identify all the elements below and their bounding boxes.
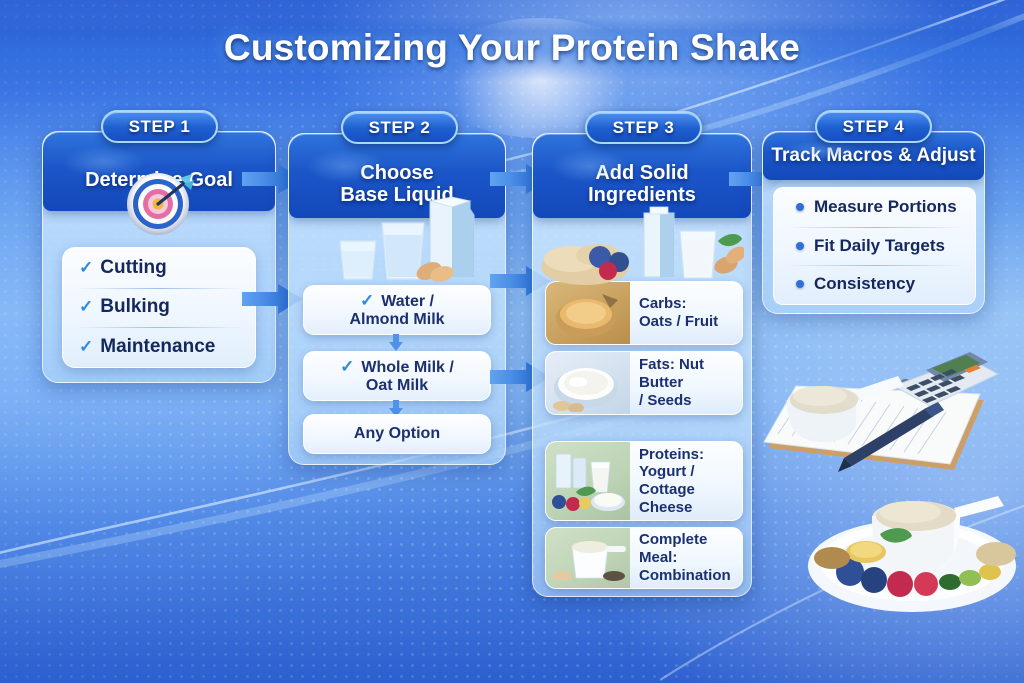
bullet-icon (796, 242, 804, 250)
check-icon: ✓ (340, 357, 354, 376)
oats-berries-milk-icon (540, 205, 744, 285)
milk-glasses-icon (320, 195, 480, 285)
ingredient-line-2: / Seeds (639, 392, 692, 409)
list-item-label: Maintenance (100, 336, 215, 358)
ingredient-text: Carbs: Oats / Fruit (630, 295, 724, 330)
fruit-plate-scoop-image (800, 470, 1024, 620)
step-4-heading: Track Macros & Adjust (771, 145, 975, 166)
ingredient-line-1: Fats: Nut Butter (639, 356, 704, 391)
option-line-2: Oat Milk (366, 377, 428, 394)
list-item[interactable]: Measure Portions (774, 188, 975, 227)
option-line-2: Almond Milk (349, 311, 444, 328)
check-icon: ✓ (79, 337, 93, 357)
check-icon: ✓ (79, 297, 93, 317)
step-3-ingredient-proteins[interactable]: Proteins: Yogurt / Cottage Cheese (545, 441, 743, 521)
step-3-badge-label: STEP 3 (613, 118, 675, 138)
target-icon (122, 166, 194, 238)
ingredient-line-1: Carbs: (639, 295, 687, 312)
option-line-1: Water / (381, 293, 434, 310)
check-icon: ✓ (360, 291, 374, 310)
ingredient-line-1: Proteins: (639, 446, 704, 463)
step-3-heading: Add Solid Ingredients (588, 162, 696, 207)
list-item[interactable]: Consistency (774, 265, 975, 304)
protein-scoop-thumb (546, 528, 630, 588)
step-2-option-1[interactable]: ✓Water / Almond Milk (303, 285, 491, 335)
step-3-badge: STEP 3 (585, 111, 702, 144)
step-4-checklist: Measure Portions Fit Daily Targets Consi… (773, 187, 976, 305)
list-item[interactable]: Fit Daily Targets (774, 227, 975, 266)
bullet-icon (796, 203, 804, 211)
step-3-ingredient-complete-meal[interactable]: Complete Meal: Combination (545, 527, 743, 589)
list-item-label: Measure Portions (814, 197, 957, 217)
milk-berries-cottage-thumb (546, 442, 630, 520)
peanut-butter-bowl-thumb (546, 282, 630, 344)
ingredient-line-2: Combination (639, 567, 731, 584)
option-line-1: Any Option (354, 425, 440, 443)
step-2-badge: STEP 2 (341, 111, 458, 144)
list-item[interactable]: ✓ Bulking (63, 288, 255, 328)
step-4-badge-label: STEP 4 (843, 117, 905, 137)
ingredient-line-2: Oats / Fruit (639, 313, 718, 330)
list-item-label: Cutting (100, 257, 166, 279)
infographic-canvas: Customizing Your Protein Shake Determine… (0, 0, 1024, 683)
yogurt-bowl-thumb (546, 352, 630, 414)
step-2-option-3[interactable]: Any Option (303, 414, 491, 454)
protein-scoop-notebook-calculator-image (748, 330, 1024, 510)
list-item-label: Bulking (100, 296, 170, 318)
step-2-badge-label: STEP 2 (369, 118, 431, 138)
ingredient-line-2: Yogurt / Cottage (639, 463, 695, 498)
list-item-label: Consistency (814, 274, 915, 294)
ingredient-line-1: Complete Meal: (639, 531, 707, 566)
ingredient-text: Proteins: Yogurt / Cottage Cheese (630, 446, 742, 517)
step-1-badge: STEP 1 (101, 110, 218, 143)
page-title: Customizing Your Protein Shake (0, 27, 1024, 69)
step-2-option-2[interactable]: ✓Whole Milk / Oat Milk (303, 351, 491, 401)
list-item-label: Fit Daily Targets (814, 236, 945, 256)
step-1-goal-list: ✓ Cutting ✓ Bulking ✓ Maintenance (62, 247, 256, 368)
bullet-icon (796, 280, 804, 288)
list-item[interactable]: ✓ Maintenance (63, 327, 255, 367)
step-4-panel: Track Macros & Adjust Measure Portions F… (762, 131, 985, 314)
step-3-ingredient-fats[interactable]: Fats: Nut Butter / Seeds (545, 351, 743, 415)
ingredient-text: Complete Meal: Combination (630, 531, 742, 584)
option-text: ✓Water / Almond Milk (349, 291, 444, 330)
list-item[interactable]: ✓ Cutting (63, 248, 255, 288)
step-4-badge: STEP 4 (815, 110, 932, 143)
check-icon: ✓ (79, 258, 93, 278)
option-line-1: Whole Milk / (361, 359, 453, 376)
step-1-badge-label: STEP 1 (129, 117, 191, 137)
step-3-ingredient-carbs[interactable]: Carbs: Oats / Fruit (545, 281, 743, 345)
ingredient-text: Fats: Nut Butter / Seeds (630, 356, 742, 409)
ingredient-line-3: Cheese (639, 499, 692, 516)
option-text: ✓Whole Milk / Oat Milk (340, 357, 454, 396)
